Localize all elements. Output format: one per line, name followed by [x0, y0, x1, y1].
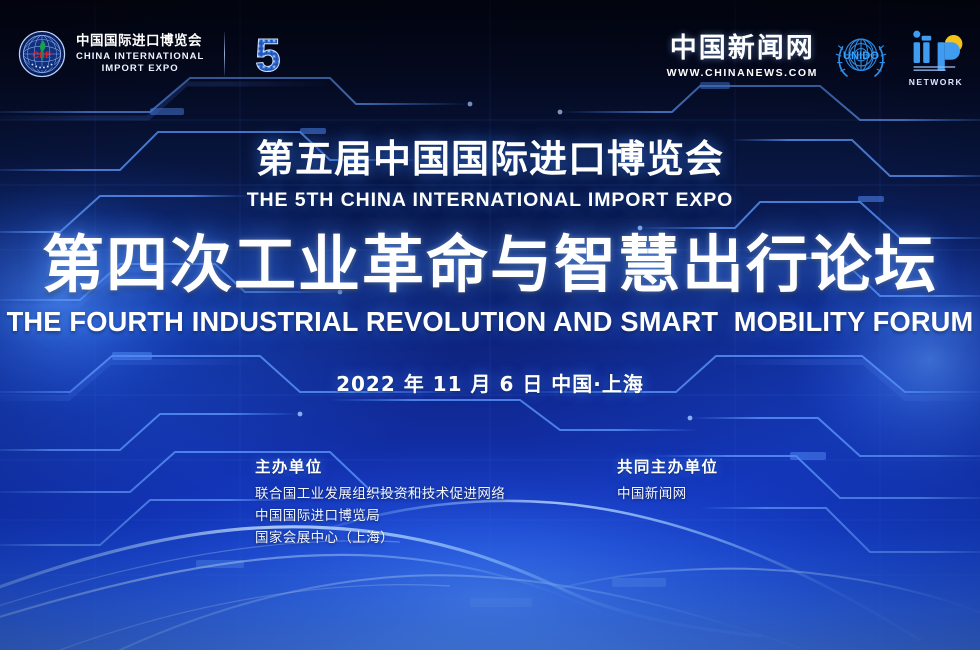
organizer-block: 主办单位 联合国工业发展组织投资和技术促进网络中国国际进口博览局国家会展中心（上…	[0, 455, 980, 565]
forum-title-en: THE FOURTH INDUSTRIAL REVOLUTION AND SMA…	[5, 306, 975, 338]
ciie-logo-lockup: CIIE 中国国际进口博览会 CHINA INTERNATIONAL IMPOR…	[18, 28, 291, 80]
ciie-name-en-line2: IMPORT EXPO	[76, 64, 204, 74]
fifth-anniversary-mark-icon: 5	[245, 28, 291, 80]
host-entities: 联合国工业发展组织投资和技术促进网络中国国际进口博览局国家会展中心（上海）	[255, 484, 505, 550]
ciie-name-en-line1: CHINA INTERNATIONAL	[76, 52, 204, 62]
chinanews-logo: 中国新闻网 WWW.CHINANEWS.COM	[667, 35, 818, 79]
forum-title-cn: 第四次工业革命与智慧出行论坛	[0, 234, 980, 296]
ciie-name-cn: 中国国际进口博览会	[76, 35, 204, 49]
logo-divider	[224, 32, 225, 76]
cohost-entities: 中国新闻网	[617, 484, 718, 506]
poster-canvas: CIIE 中国国际进口博览会 CHINA INTERNATIONAL IMPOR…	[0, 0, 980, 650]
poster-header: CIIE 中国国际进口博览会 CHINA INTERNATIONAL IMPOR…	[0, 0, 980, 110]
chinanews-name-cn: 中国新闻网	[670, 35, 815, 62]
itp-network-icon: NETWORK	[904, 26, 968, 88]
svg-text:UNIDO: UNIDO	[843, 50, 879, 62]
svg-text:CIIE: CIIE	[32, 50, 52, 61]
expo-title-cn: 第五届中国国际进口博览会	[0, 140, 980, 180]
chinanews-url: WWW.CHINANEWS.COM	[667, 68, 818, 79]
expo-title-en: THE 5TH CHINA INTERNATIONAL IMPORT EXPO	[0, 189, 980, 212]
title-block: 第五届中国国际进口博览会 THE 5TH CHINA INTERNATIONAL…	[0, 140, 980, 397]
host-label: 主办单位	[255, 455, 505, 477]
svg-text:5: 5	[255, 29, 281, 80]
cohost-label: 共同主办单位	[617, 455, 718, 477]
ciie-wordmark: 中国国际进口博览会 CHINA INTERNATIONAL IMPORT EXP…	[76, 35, 204, 74]
itp-network-label: NETWORK	[909, 77, 963, 87]
host-column: 主办单位 联合国工业发展组织投资和技术促进网络中国国际进口博览局国家会展中心（上…	[255, 455, 505, 550]
unido-un-wreath-icon: UNIDO	[830, 29, 892, 85]
cohost-column: 共同主办单位 中国新闻网	[617, 455, 718, 506]
ciie-globe-emblem-icon: CIIE	[18, 30, 66, 78]
date-location: 2022 年 11 月 6 日 中国·上海	[0, 368, 980, 397]
partner-logos: 中国新闻网 WWW.CHINANEWS.COM	[667, 26, 968, 88]
